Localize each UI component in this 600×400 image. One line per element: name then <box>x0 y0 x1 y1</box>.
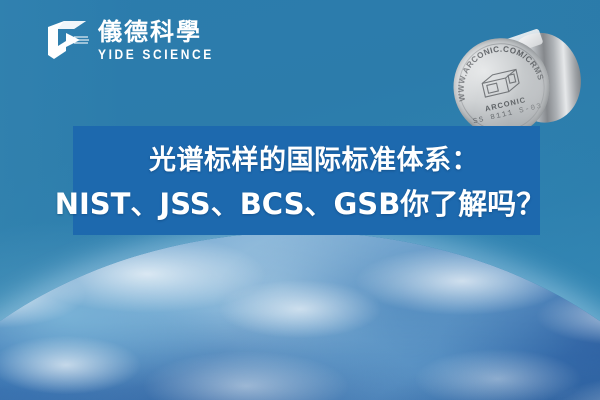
promotional-poster: 儀德科學 YIDE SCIENCE WWW.ARCONIC.COM/CRMS <box>0 0 600 400</box>
brand-name-en: YIDE SCIENCE <box>98 48 214 61</box>
brand-text-block: 儀德科學 YIDE SCIENCE <box>98 20 214 60</box>
headline-banner <box>73 126 540 235</box>
brand-logo[interactable]: 儀德科學 YIDE SCIENCE <box>44 18 214 62</box>
yide-arrow-play-logo-icon <box>44 18 90 62</box>
brand-name-cn: 儀德科學 <box>98 20 214 44</box>
